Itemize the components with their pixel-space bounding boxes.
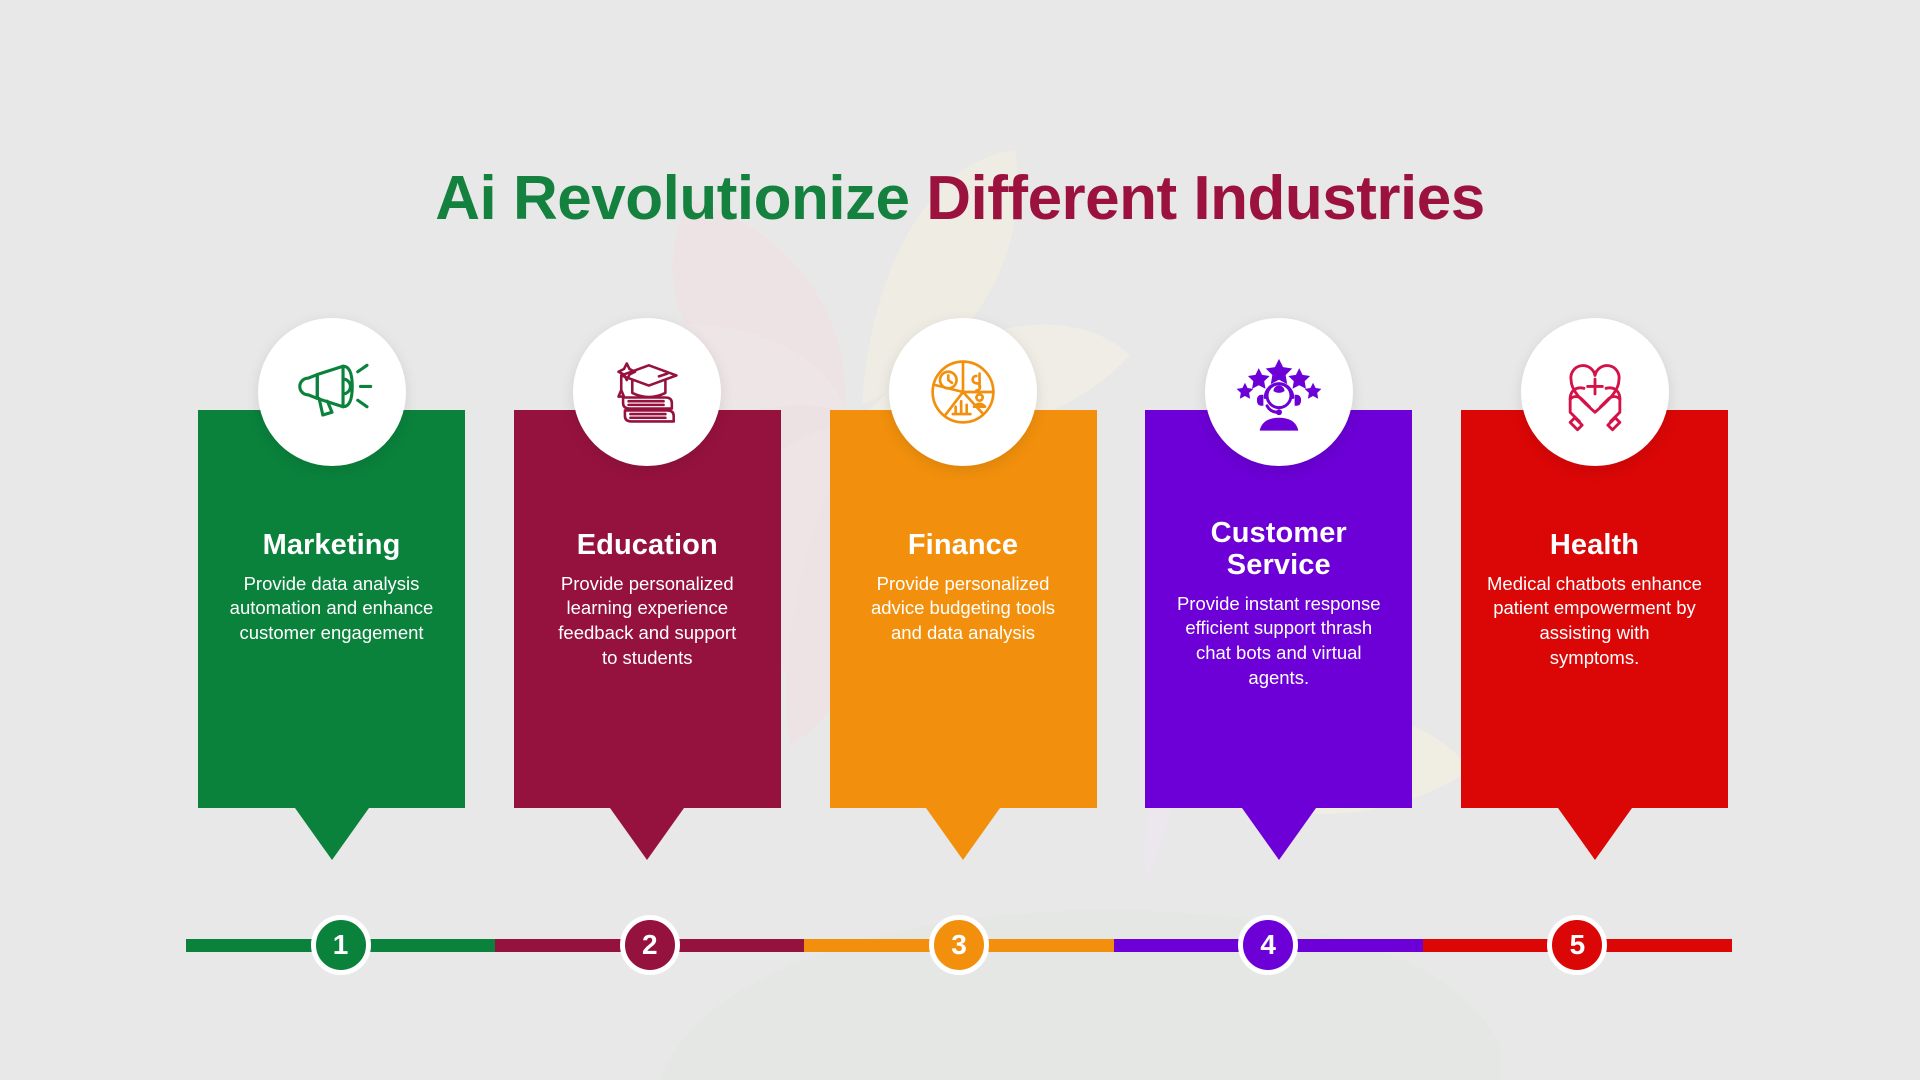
industry-card-education[interactable]: EducationProvide personalized learning e… bbox=[514, 410, 781, 808]
timeline-node-5[interactable]: 5 bbox=[1547, 915, 1607, 975]
page-title-green-part: Ai Revolutionize bbox=[435, 164, 909, 233]
card-title-customer-service: Customer Service bbox=[1159, 518, 1398, 582]
card-body-finance: FinanceProvide personalized advice budge… bbox=[830, 410, 1097, 808]
industry-card-marketing[interactable]: MarketingProvide data analysis automatio… bbox=[198, 410, 465, 808]
page-title: Ai Revolutionize Different Industries bbox=[0, 166, 1920, 231]
timeline-node-label: 5 bbox=[1570, 931, 1586, 959]
industry-card-health[interactable]: HealthMedical chatbots enhance patient e… bbox=[1461, 410, 1728, 808]
headset-agent-stars-icon bbox=[1205, 318, 1353, 466]
timeline-node-label: 2 bbox=[642, 931, 658, 959]
hands-heart-cross-icon bbox=[1521, 318, 1669, 466]
card-pointer-marketing bbox=[295, 808, 369, 860]
industry-cards-row: MarketingProvide data analysis automatio… bbox=[198, 410, 1728, 860]
title-container: Ai Revolutionize Different Industries bbox=[0, 124, 1920, 272]
industry-card-finance[interactable]: FinanceProvide personalized advice budge… bbox=[830, 410, 1097, 808]
timeline-node-3[interactable]: 3 bbox=[929, 915, 989, 975]
timeline-node-1[interactable]: 1 bbox=[311, 915, 371, 975]
card-pointer-customer-service bbox=[1242, 808, 1316, 860]
card-title-health: Health bbox=[1475, 530, 1714, 562]
card-title-marketing: Marketing bbox=[212, 530, 451, 562]
card-description-marketing: Provide data analysis automation and enh… bbox=[212, 572, 451, 646]
card-pointer-health bbox=[1558, 808, 1632, 860]
timeline-node-4[interactable]: 4 bbox=[1238, 915, 1298, 975]
timeline-node-2[interactable]: 2 bbox=[620, 915, 680, 975]
card-description-finance: Provide personalized advice budgeting to… bbox=[844, 572, 1083, 646]
industry-card-customer-service[interactable]: Customer ServiceProvide instant response… bbox=[1145, 410, 1412, 808]
card-body-health: HealthMedical chatbots enhance patient e… bbox=[1461, 410, 1728, 808]
card-pointer-finance bbox=[926, 808, 1000, 860]
timeline-node-label: 3 bbox=[951, 931, 967, 959]
page-title-maroon-part: Different Industries bbox=[926, 164, 1484, 233]
card-description-customer-service: Provide instant response efficient suppo… bbox=[1159, 592, 1398, 690]
card-body-marketing: MarketingProvide data analysis automatio… bbox=[198, 410, 465, 808]
card-title-education: Education bbox=[528, 530, 767, 562]
megaphone-icon bbox=[258, 318, 406, 466]
card-description-health: Medical chatbots enhance patient empower… bbox=[1475, 572, 1714, 670]
card-body-education: EducationProvide personalized learning e… bbox=[514, 410, 781, 808]
step-timeline: 12345 bbox=[186, 915, 1732, 975]
card-title-finance: Finance bbox=[844, 530, 1083, 562]
graduation-cap-books-icon bbox=[573, 318, 721, 466]
card-description-education: Provide personalized learning experience… bbox=[528, 572, 767, 670]
timeline-node-label: 4 bbox=[1260, 931, 1276, 959]
card-pointer-education bbox=[610, 808, 684, 860]
card-body-customer-service: Customer ServiceProvide instant response… bbox=[1145, 410, 1412, 808]
timeline-node-label: 1 bbox=[333, 931, 349, 959]
pie-chart-finance-icon bbox=[889, 318, 1037, 466]
